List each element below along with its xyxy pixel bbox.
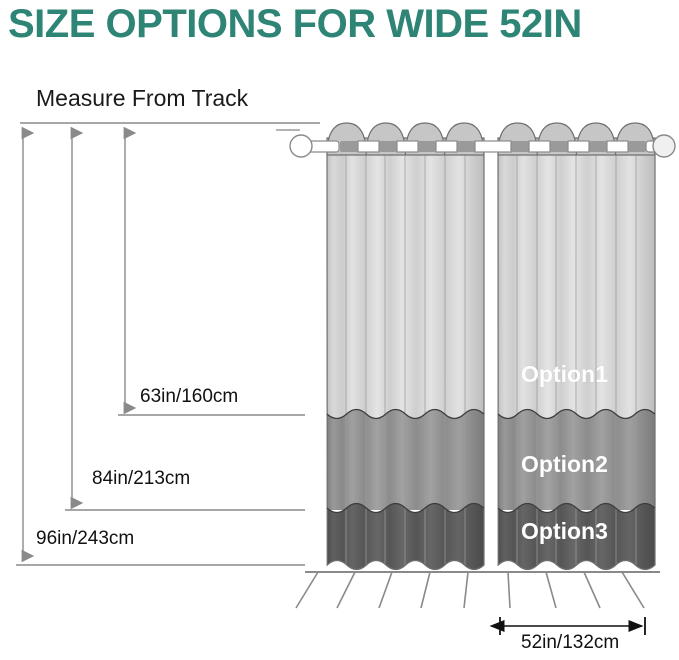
option1-label: Option1 (521, 361, 608, 388)
dimension-label-52in: 52in/132cm (521, 632, 619, 654)
curtain-panel-right (498, 138, 655, 575)
rod-finial-left (290, 135, 312, 157)
size-options-diagram: SIZE OPTIONS FOR WIDE 52IN Measure From … (0, 0, 679, 660)
dimension-label-96in: 96in/243cm (36, 528, 134, 550)
dimension-label-84in: 84in/213cm (92, 468, 190, 490)
rod-finial-right (653, 135, 675, 157)
diagram-canvas (0, 0, 679, 660)
curtain-panel-left (327, 138, 484, 575)
dimension-label-63in: 63in/160cm (140, 386, 238, 408)
height-dimension-guides (16, 123, 320, 565)
option2-label: Option2 (521, 451, 608, 478)
floor-hatching (296, 572, 660, 608)
option3-label: Option3 (521, 518, 608, 545)
